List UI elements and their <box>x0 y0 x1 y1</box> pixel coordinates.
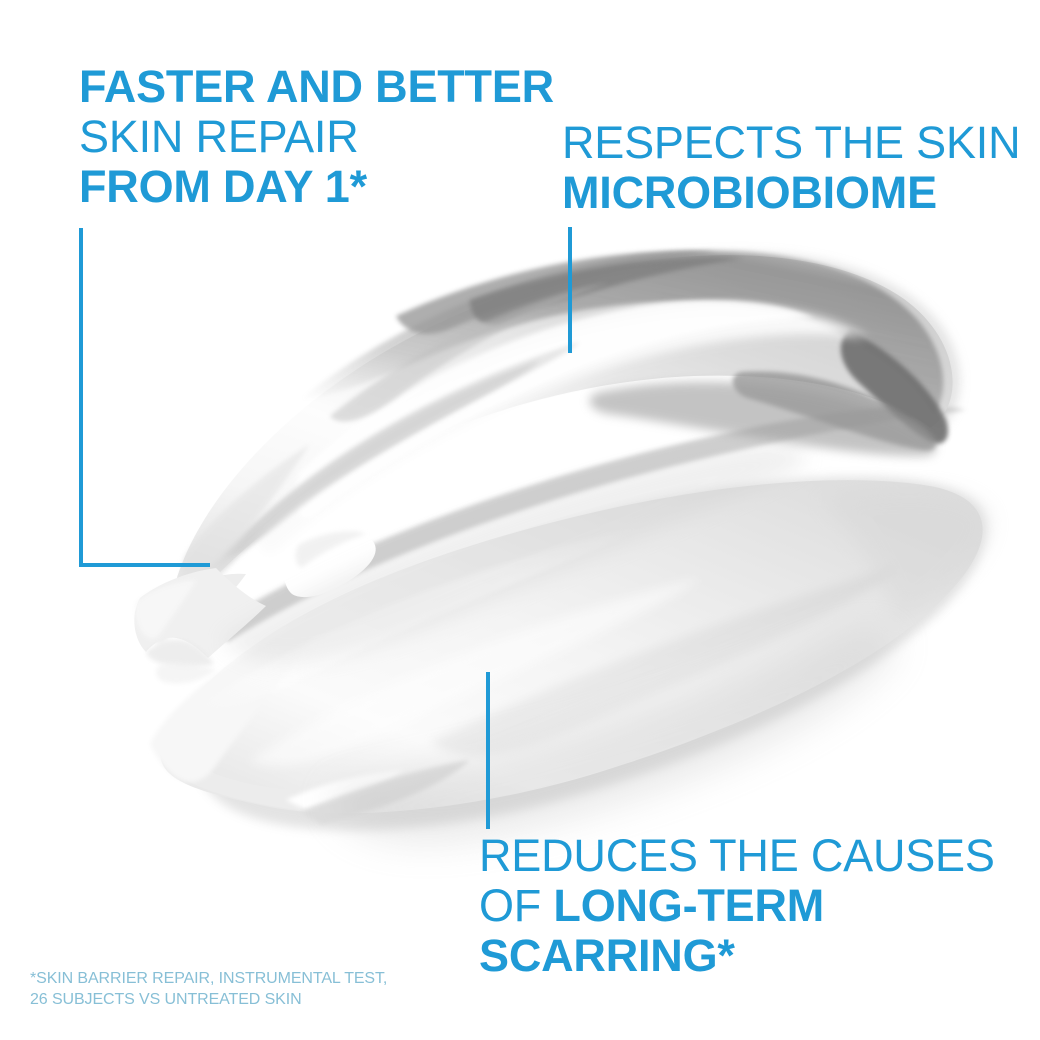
claim-skin-repair-line1: FASTER AND BETTER <box>79 62 554 112</box>
claim-microbiome: RESPECTS THE SKIN MICROBIOBIOME <box>562 118 1020 218</box>
claim-skin-repair: FASTER AND BETTER SKIN REPAIR FROM DAY 1… <box>79 62 554 212</box>
claim-microbiome-line1: RESPECTS THE SKIN <box>562 118 1020 168</box>
claim-scarring: REDUCES THE CAUSES OF LONG-TERM SCARRING… <box>479 831 995 981</box>
claim-scarring-line2-prefix: OF <box>479 880 553 931</box>
footnote-line2: 26 SUBJECTS VS UNTREATED SKIN <box>30 989 387 1010</box>
leader-line-scarring <box>486 672 490 829</box>
product-claim-graphic: FASTER AND BETTER SKIN REPAIR FROM DAY 1… <box>0 0 1040 1040</box>
footnote-line1: *SKIN BARRIER REPAIR, INSTRUMENTAL TEST, <box>30 968 387 989</box>
footnote: *SKIN BARRIER REPAIR, INSTRUMENTAL TEST,… <box>30 968 387 1010</box>
claim-skin-repair-line2: SKIN REPAIR <box>79 112 554 162</box>
claim-scarring-line3: SCARRING* <box>479 931 995 981</box>
claim-skin-repair-line3: FROM DAY 1* <box>79 162 554 212</box>
leader-line-skin-repair-vertical <box>79 228 83 567</box>
claim-microbiome-line2: MICROBIOBIOME <box>562 168 1020 218</box>
claim-scarring-line2-emphasis: LONG-TERM <box>553 880 824 931</box>
leader-line-skin-repair-horizontal <box>79 563 210 567</box>
claim-scarring-line2: OF LONG-TERM <box>479 881 995 931</box>
claim-scarring-line1: REDUCES THE CAUSES <box>479 831 995 881</box>
leader-line-microbiome <box>568 227 572 353</box>
